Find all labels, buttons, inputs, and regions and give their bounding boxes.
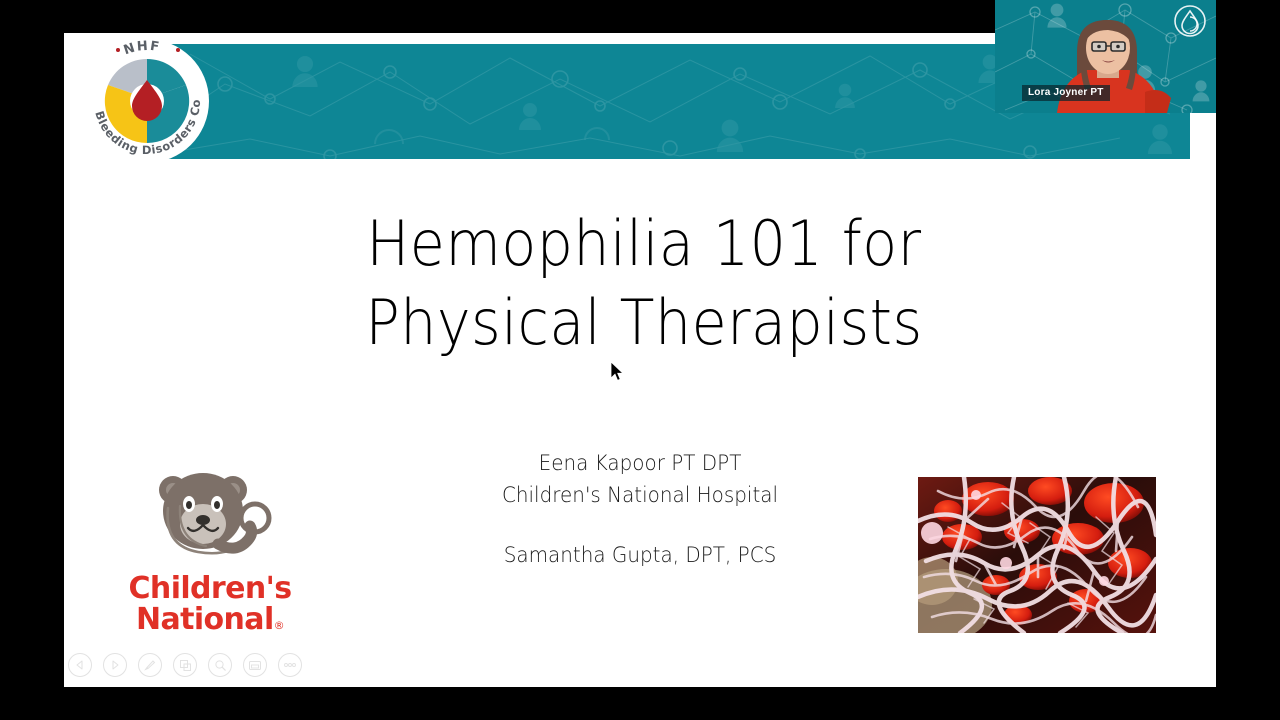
nhf-bleeding-disorders-conference-logo: NHF Bleeding Disorders Conference [74, 33, 220, 174]
slide-title: Hemophilia 101 for Physical Therapists [285, 205, 1003, 362]
presenter-1-organization: Children's National Hospital [365, 480, 916, 512]
presentation-toolbar[interactable] [68, 653, 302, 677]
presenter-2-name: Samantha Gupta, DPT, PCS [365, 540, 916, 572]
previous-slide-button[interactable] [68, 653, 92, 677]
annotate-pen-button[interactable] [138, 653, 162, 677]
more-options-button[interactable] [278, 653, 302, 677]
presentation-slide: NHF Bleeding Disorders Conference Hemoph… [64, 33, 1216, 687]
screen-capture: NHF Bleeding Disorders Conference Hemoph… [0, 0, 1280, 720]
wordmark-line-2: National [136, 602, 274, 637]
wordmark-line-1: Children's [118, 574, 302, 605]
registered-trademark-icon: ® [274, 619, 284, 632]
childrens-national-hospital-logo: Children's National® [118, 466, 302, 656]
triangle-right-icon [109, 659, 121, 671]
magnifier-icon [214, 659, 227, 672]
display-view-button[interactable] [243, 653, 267, 677]
webcam-video-tile[interactable]: Lora Joyner PT [995, 0, 1216, 113]
slide-title-line-1: Hemophilia 101 for [285, 205, 1003, 284]
mouse-pointer [610, 361, 626, 383]
slide-title-line-2: Physical Therapists [285, 284, 1003, 363]
presenter-credits: Eena Kapoor PT DPT Children's National H… [365, 448, 916, 572]
ellipsis-icon [283, 662, 297, 668]
bear-mascot-icon [118, 466, 302, 574]
nhf-logo-watermark [1173, 4, 1207, 38]
pen-icon [143, 658, 157, 672]
childrens-national-wordmark: Children's National® [118, 574, 302, 636]
copy-icon [179, 659, 192, 672]
next-slide-button[interactable] [103, 653, 127, 677]
participant-name-label: Lora Joyner PT [1022, 85, 1110, 101]
wordmark-line-2-wrap: National® [118, 605, 302, 636]
triangle-left-icon [74, 659, 86, 671]
screen-icon [248, 659, 262, 672]
blood-clot-fibrin-mesh-photo [918, 477, 1156, 633]
credits-spacer [365, 512, 916, 540]
duplicate-button[interactable] [173, 653, 197, 677]
presenter-1-name: Eena Kapoor PT DPT [365, 448, 916, 480]
zoom-search-button[interactable] [208, 653, 232, 677]
